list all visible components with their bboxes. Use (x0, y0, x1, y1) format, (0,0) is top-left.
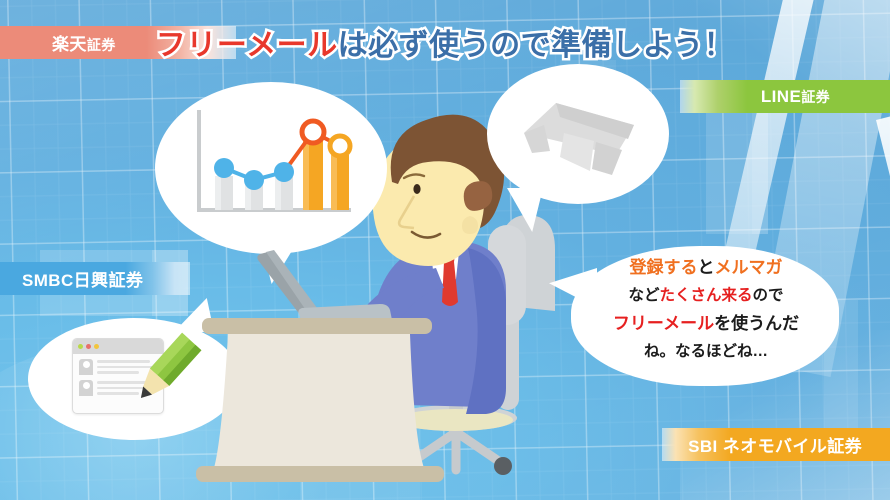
window-dot-green (78, 344, 83, 349)
avatar-icon (79, 380, 93, 396)
page-title: フリーメールは必ず使うので準備しよう！ (0, 20, 890, 64)
head (373, 115, 504, 266)
window-dot-yellow (94, 344, 99, 349)
envelope-icon (520, 95, 638, 177)
banner-line[interactable]: LINE証券 (680, 80, 890, 113)
bar-line-chart-icon (193, 110, 353, 220)
dialogue-line-3: フリーメールを使うんだ (584, 310, 828, 338)
illustration-canvas: フリーメールは必ず使うので準備しよう！ 楽天証券 LINE証券 SMBC日興証券… (0, 0, 890, 500)
window-dot-red (86, 344, 91, 349)
title-part-1: フリーメール (156, 29, 338, 62)
dialogue-line-1: 登録するとメルマガ (584, 254, 828, 282)
avatar-icon (79, 359, 93, 375)
banner-sbi[interactable]: SBI ネオモバイル証券 (662, 428, 890, 461)
banner-sbi-label: SBI ネオモバイル証券 (688, 432, 862, 457)
dialogue-line-2: などたくさん来るので (584, 282, 828, 310)
title-part-2: は必ず使うので準備しよう！ (338, 29, 735, 62)
banner-smbc-label: SMBC日興証券 (22, 266, 143, 291)
dialogue-text: 登録するとメルマガ などたくさん来るので フリーメールを使うんだ ね。なるほどね… (584, 254, 828, 366)
pencil-icon (128, 330, 206, 408)
dialogue-line-4: ね。なるほどね… (584, 338, 828, 366)
banner-smbc[interactable]: SMBC日興証券 (0, 262, 190, 295)
banner-line-label: LINE証券 (761, 87, 830, 107)
